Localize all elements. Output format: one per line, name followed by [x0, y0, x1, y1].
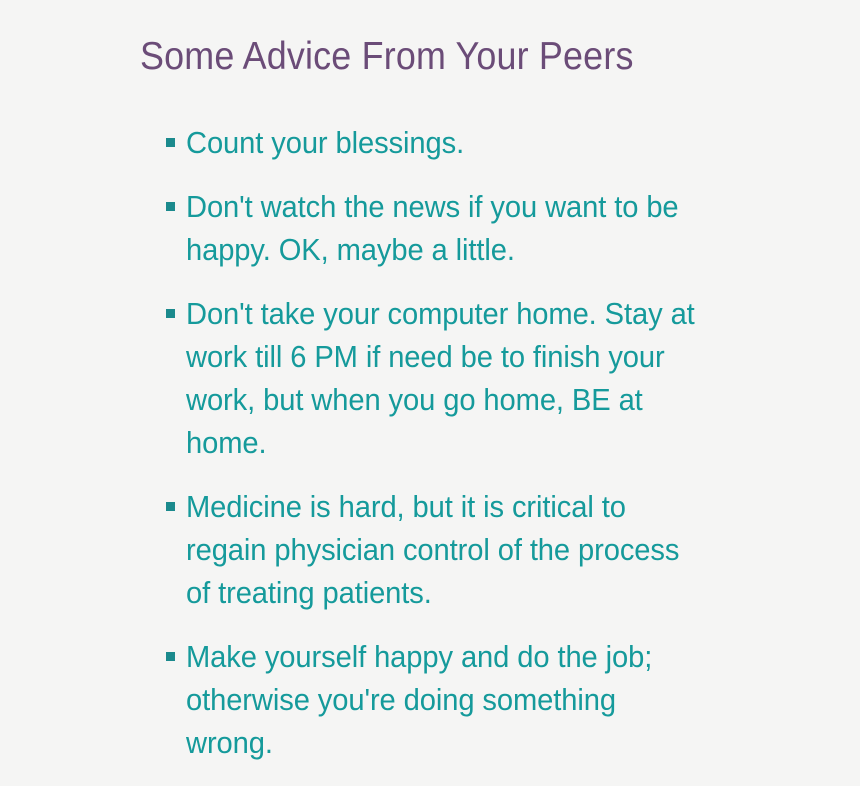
list-item: Make yourself happy and do the job; othe… [166, 636, 732, 765]
list-item: Don't take your computer home. Stay at w… [166, 293, 732, 465]
list-item: Count your blessings. [166, 122, 732, 165]
list-item-text: Don't watch the news if you want to be h… [186, 186, 707, 272]
advice-bullet-list: Count your blessings. Don't watch the ne… [166, 122, 732, 765]
list-item-text: Don't take your computer home. Stay at w… [186, 293, 707, 465]
square-bullet-icon [166, 202, 175, 211]
square-bullet-icon [166, 502, 175, 511]
square-bullet-icon [166, 652, 175, 661]
list-item-text: Count your blessings. [186, 122, 707, 165]
list-item: Don't watch the news if you want to be h… [166, 186, 732, 272]
slide-canvas: Some Advice From Your Peers Count your b… [0, 0, 860, 786]
square-bullet-icon [166, 138, 175, 147]
list-item: Medicine is hard, but it is critical to … [166, 486, 732, 615]
list-item-text: Medicine is hard, but it is critical to … [186, 486, 707, 615]
list-item-text: Make yourself happy and do the job; othe… [186, 636, 707, 765]
square-bullet-icon [166, 309, 175, 318]
page-title: Some Advice From Your Peers [140, 33, 747, 81]
